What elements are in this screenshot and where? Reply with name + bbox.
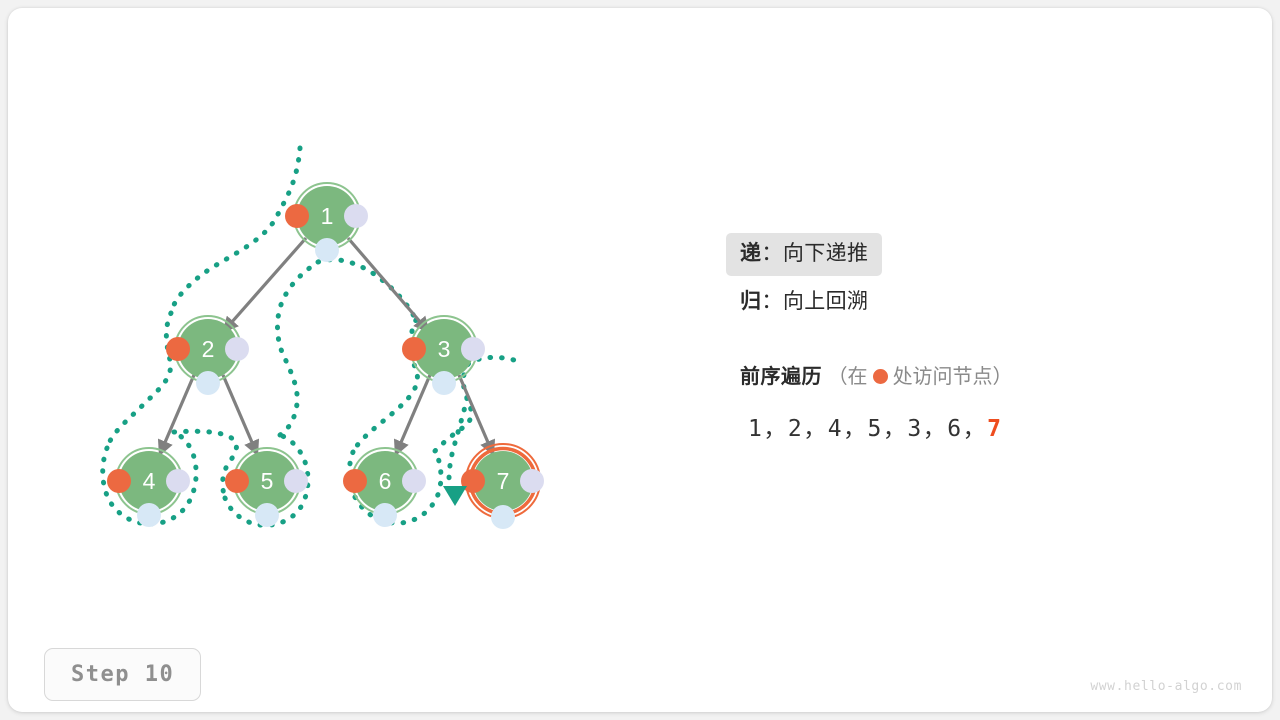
- legend-panel: 递：向下递推 归：向上回溯: [726, 233, 1246, 325]
- watermark: www.hello-algo.com: [1090, 679, 1242, 694]
- current-node-pointer-icon: [443, 486, 467, 506]
- tree-node-6[interactable]: 6: [343, 448, 426, 527]
- node-5-label: 5: [261, 468, 274, 494]
- traversal-name: 前序遍历: [740, 366, 822, 388]
- visit-dot-icon: [873, 369, 888, 384]
- node-1-right-port-icon: [344, 204, 368, 228]
- legend-ascend-separator: ：: [761, 290, 782, 313]
- traversal-order-title: 前序遍历 （在处访问节点）: [726, 360, 1246, 389]
- traversal-note-suffix: 处访问节点）: [893, 366, 1013, 388]
- node-5-visit-dot-icon: [225, 469, 249, 493]
- node-2-visit-dot-icon: [166, 337, 190, 361]
- legend-ascend-text: 向上回溯: [783, 290, 869, 313]
- edge-1-3: [348, 238, 428, 331]
- traversal-sequence-visited: 1，2，4，5，3，6，: [748, 416, 987, 442]
- legend-line-descend: 递：向下递推: [726, 233, 1246, 281]
- node-6-bottom-port-icon: [373, 503, 397, 527]
- content-card: 1 2 3: [8, 8, 1272, 712]
- node-4-label: 4: [143, 468, 156, 494]
- tree-node-1[interactable]: 1: [285, 183, 368, 262]
- legend-descend-badge: 递：向下递推: [726, 233, 882, 276]
- node-3-label: 3: [438, 336, 451, 362]
- node-5-right-port-icon: [284, 469, 308, 493]
- legend-ascend-row: 归：向上回溯: [726, 281, 882, 324]
- node-7-right-port-icon: [520, 469, 544, 493]
- node-7-label: 7: [497, 468, 510, 494]
- page-root: 1 2 3: [0, 0, 1280, 720]
- legend-descend-text: 向下递推: [783, 242, 869, 265]
- traversal-sequence: 1，2，4，5，3，6，7: [726, 409, 1246, 443]
- path-root-to-3: [318, 260, 416, 320]
- node-2-right-port-icon: [225, 337, 249, 361]
- legend-descend-keyword: 递: [740, 242, 761, 265]
- path-2-to-4: [107, 313, 171, 448]
- node-3-right-port-icon: [461, 337, 485, 361]
- path-root-to-2: [171, 148, 300, 313]
- node-2-bottom-port-icon: [196, 371, 220, 395]
- node-4-bottom-port-icon: [137, 503, 161, 527]
- node-1-bottom-port-icon: [315, 238, 339, 262]
- path-into-7: [449, 398, 467, 480]
- step-badge: Step 10: [44, 648, 201, 701]
- edge-3-7: [459, 375, 493, 454]
- node-6-visit-dot-icon: [343, 469, 367, 493]
- node-5-bottom-port-icon: [255, 503, 279, 527]
- tree-node-2[interactable]: 2: [166, 316, 249, 395]
- legend-line-ascend: 归：向上回溯: [726, 281, 1246, 324]
- traversal-sequence-current: 7: [987, 416, 1002, 442]
- node-3-visit-dot-icon: [402, 337, 426, 361]
- legend-ascend-keyword: 归: [740, 290, 761, 313]
- node-1-visit-dot-icon: [285, 204, 309, 228]
- node-6-right-port-icon: [402, 469, 426, 493]
- node-3-bottom-port-icon: [432, 371, 456, 395]
- traversal-order-panel: 前序遍历 （在处访问节点） 1，2，4，5，3，6，7: [726, 360, 1246, 443]
- edge-2-4: [160, 375, 194, 454]
- legend-descend-separator: ：: [761, 242, 782, 265]
- node-4-visit-dot-icon: [107, 469, 131, 493]
- tree-node-3[interactable]: 3: [402, 316, 485, 395]
- node-1-label: 1: [321, 203, 334, 229]
- path-5-back-to-root: [277, 262, 318, 435]
- node-6-label: 6: [379, 468, 392, 494]
- traversal-note-prefix: （在: [828, 366, 868, 388]
- node-2-label: 2: [202, 336, 215, 362]
- node-4-right-port-icon: [166, 469, 190, 493]
- node-7-bottom-port-icon: [491, 505, 515, 529]
- tree-node-7[interactable]: 7: [461, 444, 544, 529]
- edge-2-5: [223, 375, 257, 454]
